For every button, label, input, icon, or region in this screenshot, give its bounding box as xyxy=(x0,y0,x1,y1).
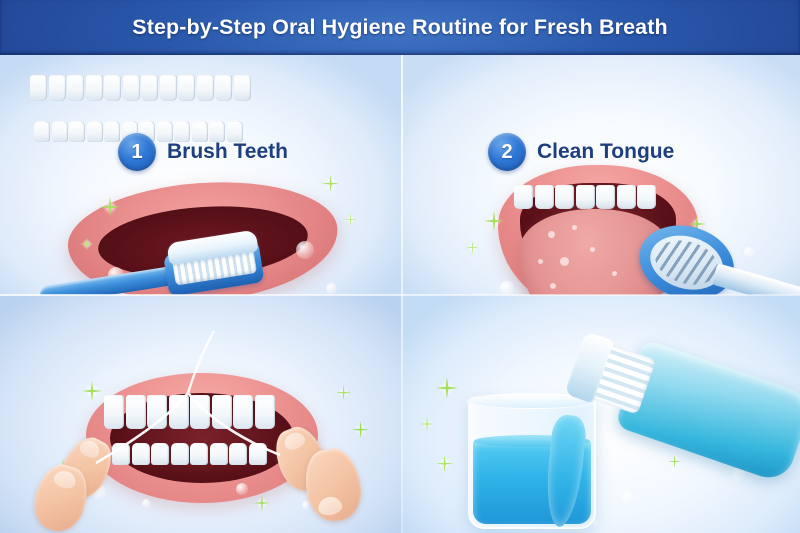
sparkle-icon xyxy=(436,377,458,399)
tooth xyxy=(52,121,68,142)
step-panel-3: 3 Floss Daily xyxy=(0,295,402,533)
bubble xyxy=(296,241,314,259)
bubble xyxy=(622,491,634,503)
illustration-floss-daily xyxy=(0,295,402,533)
step-number-badge: 2 xyxy=(488,133,526,171)
bubble xyxy=(142,499,151,508)
step-panel-1: 1 Brush Teeth xyxy=(0,55,402,295)
tooth xyxy=(215,75,232,101)
tooth xyxy=(197,75,214,101)
tooth xyxy=(49,75,66,101)
tongue-papilla xyxy=(560,257,569,266)
tooth xyxy=(151,443,169,465)
step-label: Clean Tongue xyxy=(537,140,674,164)
tooth xyxy=(190,443,208,465)
sparkle-icon xyxy=(466,241,479,254)
tooth xyxy=(86,75,103,101)
tooth xyxy=(190,395,210,429)
tooth xyxy=(126,395,146,429)
tooth xyxy=(596,185,615,209)
sparkle-icon xyxy=(436,455,453,472)
tooth xyxy=(576,185,595,209)
tooth xyxy=(104,75,121,101)
mouthwash-bottle xyxy=(561,322,800,497)
tongue-papilla xyxy=(550,283,556,289)
bubble xyxy=(236,483,248,495)
tooth xyxy=(34,121,50,142)
infographic-poster: Step-by-Step Oral Hygiene Routine for Fr… xyxy=(0,0,800,533)
right-hand xyxy=(262,419,382,533)
left-hand xyxy=(28,435,138,533)
step-number-badge: 1 xyxy=(118,133,156,171)
upper-teeth-row xyxy=(104,395,275,429)
bubble xyxy=(500,281,514,295)
step-panel-2: 2 Clean Tongue xyxy=(402,55,800,295)
sparkle-icon xyxy=(344,213,357,226)
sparkle-icon xyxy=(82,381,102,401)
tooth xyxy=(30,75,47,101)
sparkle-icon xyxy=(322,175,339,192)
sparkle-icon xyxy=(336,385,351,400)
tooth xyxy=(69,121,85,142)
tongue-papilla xyxy=(612,271,617,276)
upper-teeth-row xyxy=(514,185,656,209)
upper-teeth-row xyxy=(30,75,251,101)
step-heading-2: 2 Clean Tongue xyxy=(488,133,674,171)
tooth xyxy=(637,185,656,209)
poster-header: Step-by-Step Oral Hygiene Routine for Fr… xyxy=(0,0,800,55)
tooth xyxy=(555,185,574,209)
tooth xyxy=(87,121,103,142)
tooth xyxy=(141,75,158,101)
tooth xyxy=(171,443,189,465)
tooth xyxy=(104,395,124,429)
tooth xyxy=(514,185,533,209)
tooth xyxy=(210,443,228,465)
tongue-papilla xyxy=(538,259,543,264)
poster-title: Step-by-Step Oral Hygiene Routine for Fr… xyxy=(132,15,667,40)
sparkle-icon xyxy=(420,417,434,431)
scraper-handle xyxy=(712,263,800,295)
step-label: Brush Teeth xyxy=(167,140,288,164)
tooth xyxy=(229,443,247,465)
tooth xyxy=(617,185,636,209)
tooth xyxy=(169,395,189,429)
step-heading-1: 1 Brush Teeth xyxy=(118,133,288,171)
tooth xyxy=(147,395,167,429)
bubble xyxy=(326,283,337,294)
tongue-papilla xyxy=(572,225,577,230)
illustration-clean-tongue xyxy=(402,55,800,295)
illustration-dental-rinse xyxy=(402,295,800,533)
step-panel-4: 4 Use Dental Rinse xyxy=(402,295,800,533)
tooth xyxy=(234,75,251,101)
tooth xyxy=(160,75,177,101)
tongue-scraper xyxy=(626,215,800,295)
tooth xyxy=(212,395,232,429)
tooth xyxy=(535,185,554,209)
tongue-papilla xyxy=(548,231,555,238)
tooth xyxy=(67,75,84,101)
horizontal-divider xyxy=(0,294,800,296)
illustration-brush-teeth xyxy=(0,55,402,295)
tooth xyxy=(123,75,140,101)
tooth xyxy=(233,395,253,429)
tooth xyxy=(178,75,195,101)
tongue-papilla xyxy=(590,247,595,252)
